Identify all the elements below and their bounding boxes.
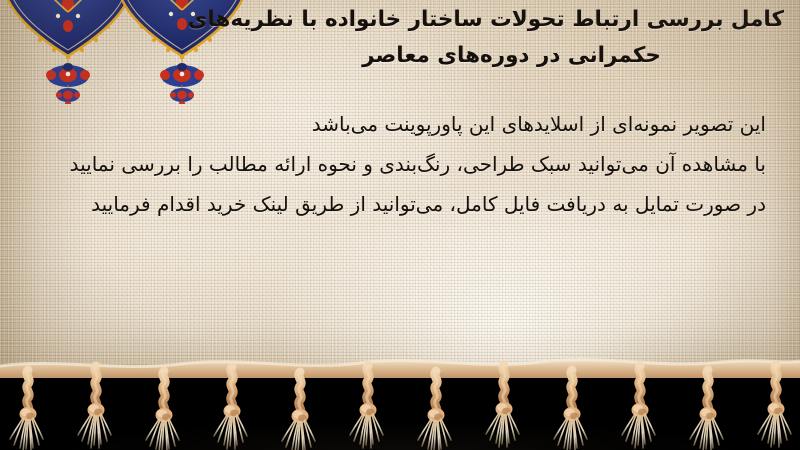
slide-body: این تصویر نمونه‌ای از اسلایدهای این پاور… — [26, 104, 766, 224]
slide-title: کامل بررسی ارتباط تحولات ساختار خانواده … — [239, 2, 784, 74]
bottom-black-band — [0, 372, 800, 450]
body-line-3: در صورت تمایل به دریافت فایل کامل، می‌تو… — [26, 184, 766, 224]
title-line-2: حکمرانی در دوره‌های معاصر — [239, 38, 784, 74]
body-line-1: این تصویر نمونه‌ای از اسلایدهای این پاور… — [26, 104, 766, 144]
slide-canvas: کامل بررسی ارتباط تحولات ساختار خانواده … — [0, 0, 800, 450]
body-line-2: با مشاهده آن می‌توانید سبک طراحی، رنگ‌بن… — [26, 144, 766, 184]
title-line-1: کامل بررسی ارتباط تحولات ساختار خانواده … — [239, 2, 784, 38]
